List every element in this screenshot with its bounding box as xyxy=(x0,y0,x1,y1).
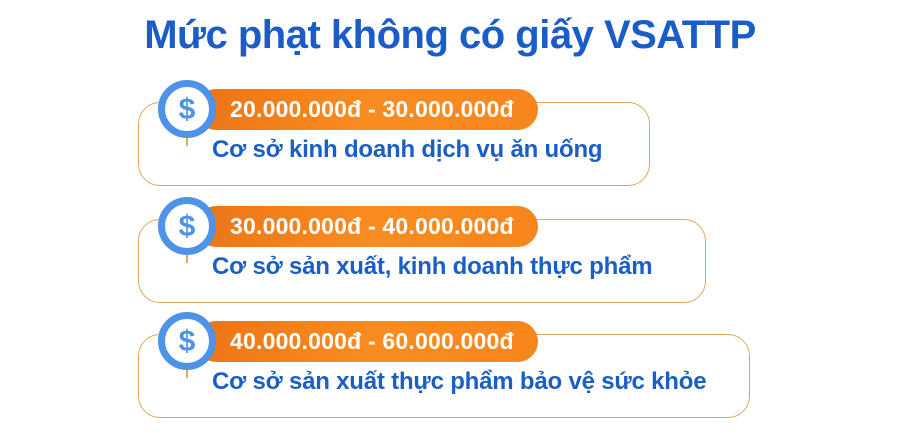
penalty-description: Cơ sở sản xuất thực phẩm bảo vệ sức khỏe xyxy=(212,368,706,396)
amount-label: 30.000.000đ - 40.000.000đ xyxy=(230,215,514,238)
amount-pill: 20.000.000đ - 30.000.000đ xyxy=(196,89,538,130)
penalty-infographic: Mức phạt không có giấy VSATTP 20.000.000… xyxy=(0,0,900,433)
penalty-row: 20.000.000đ - 30.000.000đ Cơ sở kinh doa… xyxy=(0,80,900,190)
penalty-row: 30.000.000đ - 40.000.000đ Cơ sở sản xuất… xyxy=(0,197,900,307)
dollar-coin-icon: $ xyxy=(158,312,216,370)
amount-label: 40.000.000đ - 60.000.000đ xyxy=(230,330,514,353)
svg-text:$: $ xyxy=(179,210,196,243)
penalty-description: Cơ sở sản xuất, kinh doanh thực phẩm xyxy=(212,253,652,281)
amount-label: 20.000.000đ - 30.000.000đ xyxy=(230,98,514,121)
penalty-description: Cơ sở kinh doanh dịch vụ ăn uống xyxy=(212,136,602,164)
svg-text:$: $ xyxy=(179,93,196,126)
amount-pill: 30.000.000đ - 40.000.000đ xyxy=(196,206,538,247)
dollar-coin-icon: $ xyxy=(158,80,216,138)
dollar-coin-icon: $ xyxy=(158,197,216,255)
penalty-row: 40.000.000đ - 60.000.000đ Cơ sở sản xuất… xyxy=(0,312,900,422)
page-title: Mức phạt không có giấy VSATTP xyxy=(0,12,900,58)
svg-text:$: $ xyxy=(179,325,196,358)
amount-pill: 40.000.000đ - 60.000.000đ xyxy=(196,321,538,362)
